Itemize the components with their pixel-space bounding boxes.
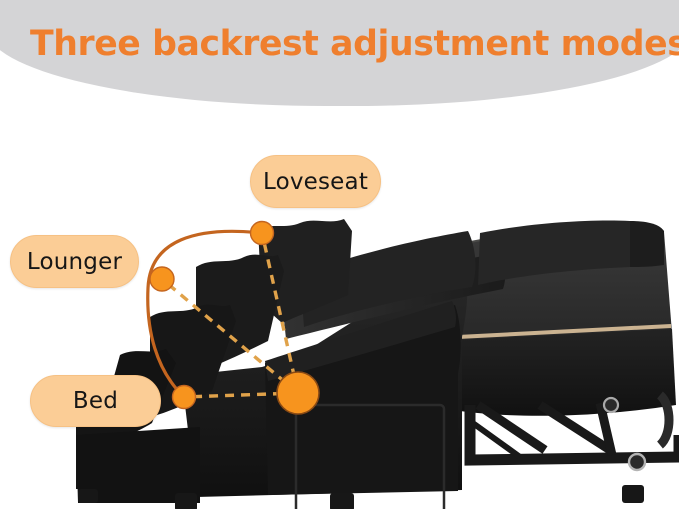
label-pill-loveseat-text: Loveseat <box>263 169 368 195</box>
label-pill-lounger[interactable]: Lounger <box>10 235 139 288</box>
label-pill-loveseat[interactable]: Loveseat <box>250 155 381 208</box>
label-pill-lounger-text: Lounger <box>27 249 122 275</box>
infographic-page: Three backrest adjustment modes <box>0 0 679 509</box>
label-pill-bed-text: Bed <box>73 388 118 414</box>
page-title: Three backrest adjustment modes <box>30 24 664 64</box>
label-pill-bed[interactable]: Bed <box>30 375 161 427</box>
